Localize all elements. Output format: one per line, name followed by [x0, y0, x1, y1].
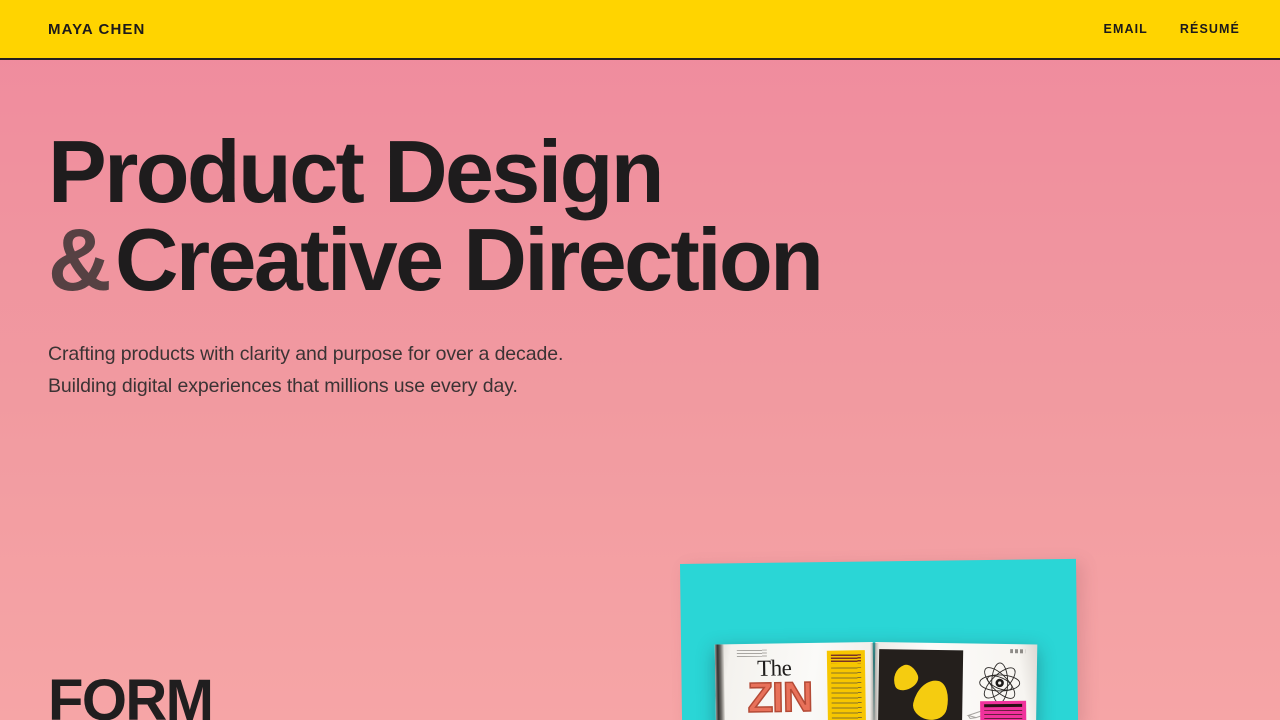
atom-diagram-icon [976, 660, 1023, 707]
site-header: MAYA CHEN EMAIL RÉSUMÉ [0, 0, 1280, 60]
hero-title-line-1: Product Design [48, 128, 1232, 216]
nav-link-resume[interactable]: RÉSUMÉ [1180, 22, 1240, 36]
yellow-droplet-small-icon [889, 662, 921, 693]
magazine-spine [715, 644, 725, 720]
page-title: Product Design &Creative Direction [48, 128, 1232, 303]
sticky-note-body-text [984, 710, 1022, 720]
open-magazine: The ZIN [716, 642, 1036, 720]
showcase-image: The ZIN [660, 550, 1130, 720]
page-number-text [1010, 649, 1025, 653]
yellow-droplet-large-icon [910, 677, 952, 720]
masthead-zine-text: ZIN [747, 676, 812, 719]
section-heading-form: FORM [48, 672, 212, 720]
pink-sticky-note [980, 701, 1026, 720]
hero-title-line-2: &Creative Direction [48, 216, 1232, 304]
yellow-sidebar-column [827, 650, 866, 720]
magazine-left-page: The ZIN [715, 642, 874, 720]
brand-name[interactable]: MAYA CHEN [48, 21, 145, 38]
sidebar-body-text [831, 667, 862, 720]
main-nav: EMAIL RÉSUMÉ [1104, 22, 1240, 36]
ampersand-glyph: & [48, 210, 109, 309]
hero-subtitle-line-2: Building digital experiences that millio… [48, 371, 1232, 403]
magazine-right-page [874, 642, 1037, 720]
dark-illustration-panel [878, 649, 963, 720]
sidebar-headline-text [831, 654, 861, 663]
hero-title-line-2-text: Creative Direction [115, 210, 821, 309]
hero-subtitle-line-1: Crafting products with clarity and purpo… [48, 339, 1232, 371]
hero-subtitle: Crafting products with clarity and purpo… [48, 339, 1232, 402]
magazine-gutter-shadow [870, 643, 879, 720]
sticky-note-title-text [984, 704, 1022, 707]
nav-link-email[interactable]: EMAIL [1104, 22, 1148, 36]
hero-section: Product Design &Creative Direction Craft… [0, 62, 1280, 402]
